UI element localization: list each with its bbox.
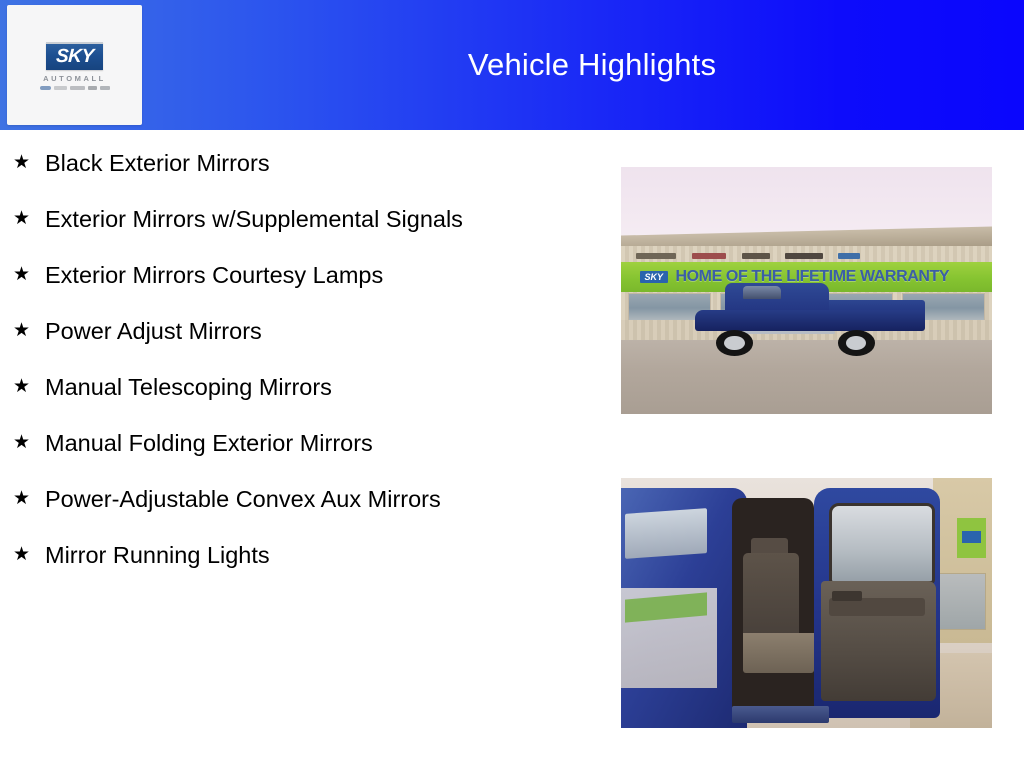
list-item-label: Manual Folding Exterior Mirrors <box>45 428 373 458</box>
jeep-sign-icon <box>742 253 770 260</box>
photo-truck <box>695 283 925 347</box>
star-bullet-icon: ★ <box>13 372 45 402</box>
list-item: ★ Exterior Mirrors w/Supplemental Signal… <box>0 204 600 234</box>
door-window-glass <box>829 503 935 584</box>
list-item: ★ Mirror Running Lights <box>0 540 600 570</box>
vehicle-interior-rear-door-photo[interactable] <box>621 478 992 728</box>
list-item-label: Power Adjust Mirrors <box>45 316 262 346</box>
list-item-label: Exterior Mirrors Courtesy Lamps <box>45 260 383 290</box>
truck-lower-body <box>695 310 925 331</box>
photo-parking-lot <box>621 340 992 414</box>
truck-cab-window <box>743 286 781 299</box>
banner-sky-badge: SKY <box>640 271 669 283</box>
vehicle-exterior-side-photo[interactable]: SKY HOME OF THE LIFETIME WARRANTY <box>621 167 992 414</box>
photo-building-brand-logos <box>636 250 948 262</box>
jeep-brand-icon <box>88 86 97 90</box>
list-item-label: Manual Telescoping Mirrors <box>45 372 332 402</box>
door-armrest <box>829 598 925 616</box>
list-item: ★ Black Exterior Mirrors <box>0 148 600 178</box>
list-item: ★ Power Adjust Mirrors <box>0 316 600 346</box>
truck-running-board <box>732 706 828 724</box>
star-bullet-icon: ★ <box>13 484 45 514</box>
dealer-logo-card[interactable]: SKY AUTOMALL <box>7 5 142 125</box>
slide-header: Vehicle Highlights <box>0 0 1024 130</box>
star-bullet-icon: ★ <box>13 316 45 346</box>
sky-sign-icon <box>838 253 860 260</box>
star-bullet-icon: ★ <box>13 540 45 570</box>
truck-front-wheel <box>716 330 753 356</box>
sky-logo-text: SKY <box>55 47 94 66</box>
dodge-brand-icon <box>70 86 85 90</box>
chrysler-brand-icon <box>54 86 67 90</box>
truck-cab-window <box>625 508 707 559</box>
star-bullet-icon: ★ <box>13 428 45 458</box>
dodge-sign-icon <box>692 253 726 260</box>
list-item-label: Mirror Running Lights <box>45 540 270 570</box>
vehicle-highlights-list: ★ Black Exterior Mirrors ★ Exterior Mirr… <box>0 148 600 596</box>
photo-sky-sign-icon <box>957 518 987 558</box>
ford-brand-icon <box>40 86 51 90</box>
automall-subtitle: AUTOMALL <box>43 75 106 83</box>
list-item: ★ Manual Telescoping Mirrors <box>0 372 600 402</box>
ram-brand-icon <box>100 86 110 90</box>
brand-logos-strip <box>40 86 110 90</box>
logo-inner: SKY AUTOMALL <box>40 42 110 90</box>
list-item-label: Exterior Mirrors w/Supplemental Signals <box>45 204 463 234</box>
sky-logo-badge: SKY <box>46 42 104 70</box>
photo-showroom-window <box>936 573 986 630</box>
list-item-label: Power-Adjustable Convex Aux Mirrors <box>45 484 441 514</box>
chrysler-sign-icon <box>636 253 677 260</box>
star-bullet-icon: ★ <box>13 148 45 178</box>
star-bullet-icon: ★ <box>13 260 45 290</box>
truck-rear-wheel <box>838 330 875 356</box>
page-title: Vehicle Highlights <box>160 0 1024 130</box>
list-item: ★ Exterior Mirrors Courtesy Lamps <box>0 260 600 290</box>
door-handle-icon <box>832 591 862 601</box>
ram-sign-icon <box>785 253 822 260</box>
list-item: ★ Manual Folding Exterior Mirrors <box>0 428 600 458</box>
list-item: ★ Power-Adjustable Convex Aux Mirrors <box>0 484 600 514</box>
list-item-label: Black Exterior Mirrors <box>45 148 270 178</box>
rear-seat-back <box>743 553 799 638</box>
rear-seat-base <box>743 633 813 673</box>
star-bullet-icon: ★ <box>13 204 45 234</box>
